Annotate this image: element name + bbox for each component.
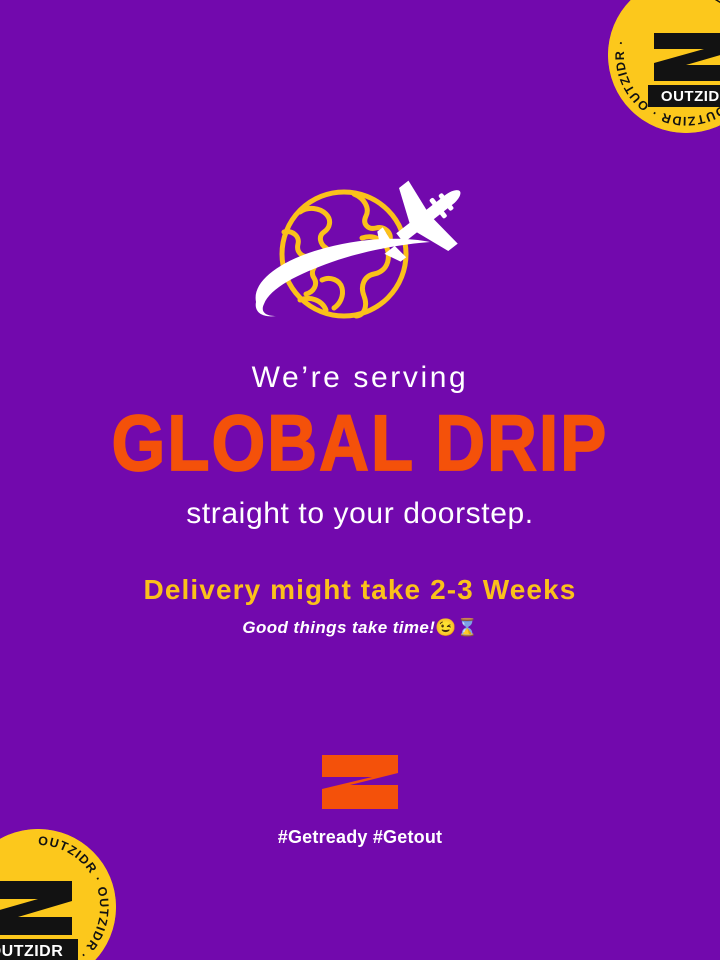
kicker-text: We’re serving	[0, 362, 720, 394]
svg-text:OUTZIDR: OUTZIDR	[0, 943, 63, 960]
outzidr-seal-top-right: OUTZIDR · OUTZIDR · OUTZIDR · OUTZIDR · …	[608, 0, 720, 133]
headline-block: We’re serving GLOBAL DRIP straight to yo…	[0, 362, 720, 637]
footer-lockup: #Getready #Getout	[0, 753, 720, 848]
seal-wordmark-bar: OUTZIDR	[0, 939, 78, 960]
brand-z-logo	[320, 753, 400, 811]
seal-wordmark-bar: OUTZIDR	[648, 85, 720, 107]
tagline-emoji: 😉⌛	[435, 618, 477, 637]
tagline-text: Good things take time!😉⌛	[0, 619, 720, 637]
hashtags-text: #Getready #Getout	[0, 827, 720, 848]
outzidr-seal-bottom-left: OUTZIDR · OUTZIDR · OUTZIDR · OUTZIDR · …	[0, 829, 116, 960]
globe-plane-emblem	[234, 176, 486, 344]
svg-text:OUTZIDR: OUTZIDR	[661, 88, 720, 105]
subline-text: straight to your doorstep.	[0, 498, 720, 530]
delivery-notice: Delivery might take 2-3 Weeks	[0, 575, 720, 604]
page-title: GLOBAL DRIP	[0, 403, 720, 482]
tagline-label: Good things take time!	[242, 618, 435, 637]
poster-canvas: OUTZIDR · OUTZIDR · OUTZIDR · OUTZIDR · …	[0, 0, 720, 960]
